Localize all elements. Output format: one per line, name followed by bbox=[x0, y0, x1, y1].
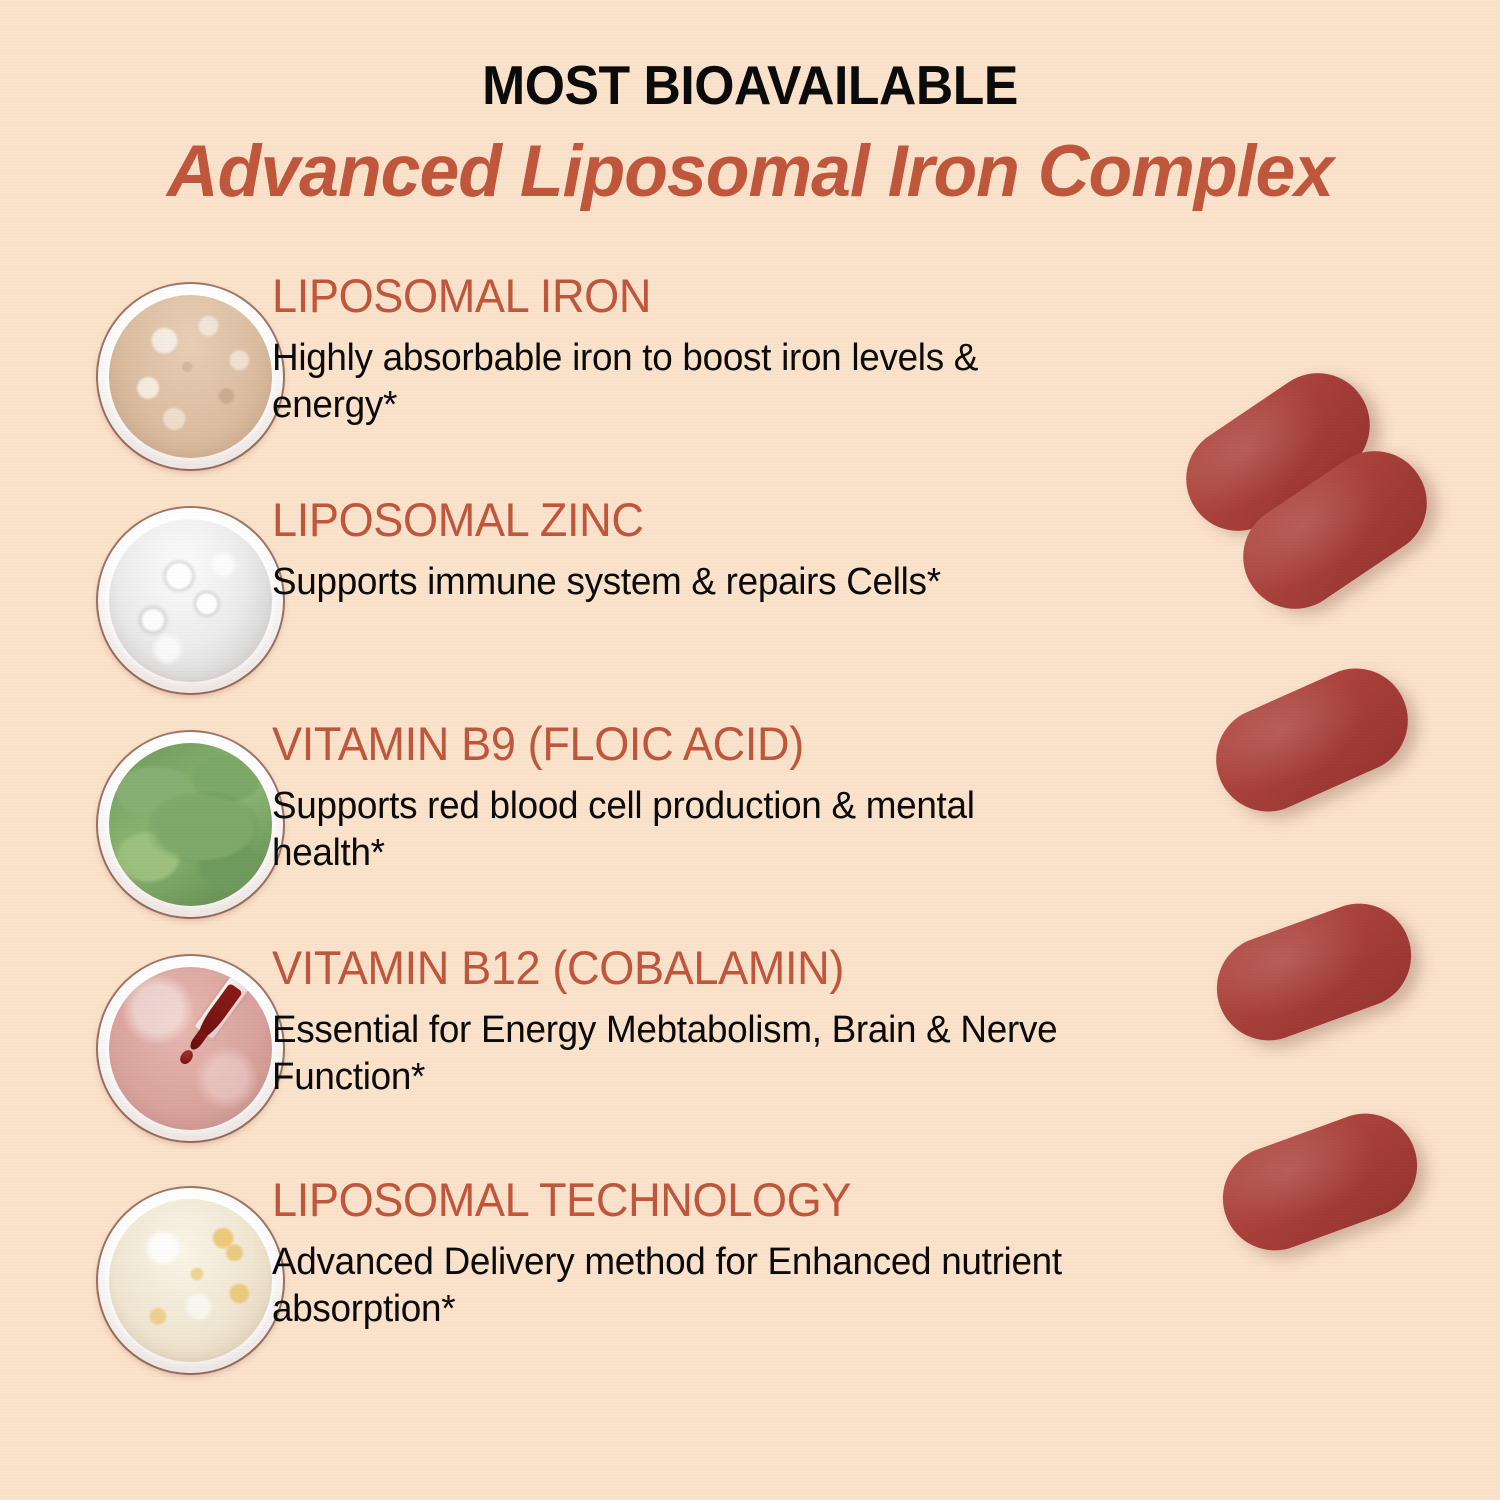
spinach-leaves-texture bbox=[109, 743, 272, 906]
zinc-powder-bowl-icon bbox=[98, 508, 283, 693]
pipette-tip bbox=[188, 1030, 208, 1052]
page-header: MOST BIOAVAILABLE Advanced Liposomal Iro… bbox=[0, 0, 1500, 208]
liposome-cream-bowl-icon bbox=[98, 1188, 283, 1373]
feature-text-block: LIPOSOMAL IRON Highly absorbable iron to… bbox=[200, 272, 1100, 429]
feature-description: Supports immune system & repairs Cells* bbox=[272, 543, 941, 606]
thumbnail-wrapper bbox=[0, 272, 200, 469]
feature-item-liposomal-zinc: LIPOSOMAL ZINC Supports immune system & … bbox=[0, 496, 1100, 720]
feature-title: LIPOSOMAL ZINC bbox=[272, 496, 934, 543]
feature-text-block: VITAMIN B12 (COBALAMIN) Essential for En… bbox=[200, 944, 1100, 1101]
feature-item-vitamin-b12: VITAMIN B12 (COBALAMIN) Essential for En… bbox=[0, 944, 1100, 1176]
feature-title: VITAMIN B9 (FLOIC ACID) bbox=[272, 720, 1067, 767]
liposome-cream-texture bbox=[109, 1199, 272, 1362]
feature-title: LIPOSOMAL IRON bbox=[272, 272, 1067, 319]
thumbnail-wrapper bbox=[0, 944, 200, 1141]
feature-item-liposomal-technology: LIPOSOMAL TECHNOLOGY Advanced Delivery m… bbox=[0, 1176, 1100, 1400]
thumb-image bbox=[109, 1199, 272, 1362]
feature-title: LIPOSOMAL TECHNOLOGY bbox=[272, 1176, 1067, 1223]
feature-description: Supports red blood cell production & men… bbox=[272, 767, 1075, 877]
product-tablet-group bbox=[1160, 0, 1500, 1500]
pipette-icon bbox=[164, 967, 261, 1078]
page-title: Advanced Liposomal Iron Complex bbox=[15, 113, 1485, 208]
liquid-drop bbox=[178, 1048, 196, 1067]
thumb-image bbox=[109, 967, 272, 1130]
thumb-image bbox=[109, 743, 272, 906]
feature-text-block: LIPOSOMAL ZINC Supports immune system & … bbox=[200, 496, 961, 606]
thumb-image bbox=[109, 295, 272, 458]
iron-tablet-2 bbox=[1223, 431, 1447, 629]
iron-tablet-3 bbox=[1199, 652, 1424, 828]
thumb-image bbox=[109, 519, 272, 682]
spinach-leaves-bowl-icon bbox=[98, 732, 283, 917]
feature-item-liposomal-iron: LIPOSOMAL IRON Highly absorbable iron to… bbox=[0, 272, 1100, 496]
iron-tablet-1 bbox=[1166, 353, 1390, 551]
feature-title: VITAMIN B12 (COBALAMIN) bbox=[272, 944, 1067, 991]
feature-item-vitamin-b9: VITAMIN B9 (FLOIC ACID) Supports red blo… bbox=[0, 720, 1100, 944]
iron-tablet-4 bbox=[1202, 889, 1426, 1055]
iron-powder-texture bbox=[109, 295, 272, 458]
feature-text-block: LIPOSOMAL TECHNOLOGY Advanced Delivery m… bbox=[200, 1176, 1100, 1333]
b12-serum-background bbox=[109, 967, 272, 1130]
thumbnail-wrapper bbox=[0, 720, 200, 917]
feature-list: LIPOSOMAL IRON Highly absorbable iron to… bbox=[0, 272, 1100, 1400]
feature-text-block: VITAMIN B9 (FLOIC ACID) Supports red blo… bbox=[200, 720, 1100, 877]
dropper-red-liquid-icon bbox=[98, 956, 283, 1141]
zinc-powder-texture bbox=[109, 519, 272, 682]
thumbnail-wrapper bbox=[0, 496, 200, 693]
iron-powder-bowl-icon bbox=[98, 284, 283, 469]
feature-description: Highly absorbable iron to boost iron lev… bbox=[272, 319, 1075, 429]
iron-tablet-5 bbox=[1208, 1099, 1432, 1265]
eyebrow-heading: MOST BIOAVAILABLE bbox=[45, 0, 1455, 113]
thumbnail-wrapper bbox=[0, 1176, 200, 1373]
feature-description: Advanced Delivery method for Enhanced nu… bbox=[272, 1223, 1075, 1333]
feature-description: Essential for Energy Mebtabolism, Brain … bbox=[272, 991, 1075, 1101]
